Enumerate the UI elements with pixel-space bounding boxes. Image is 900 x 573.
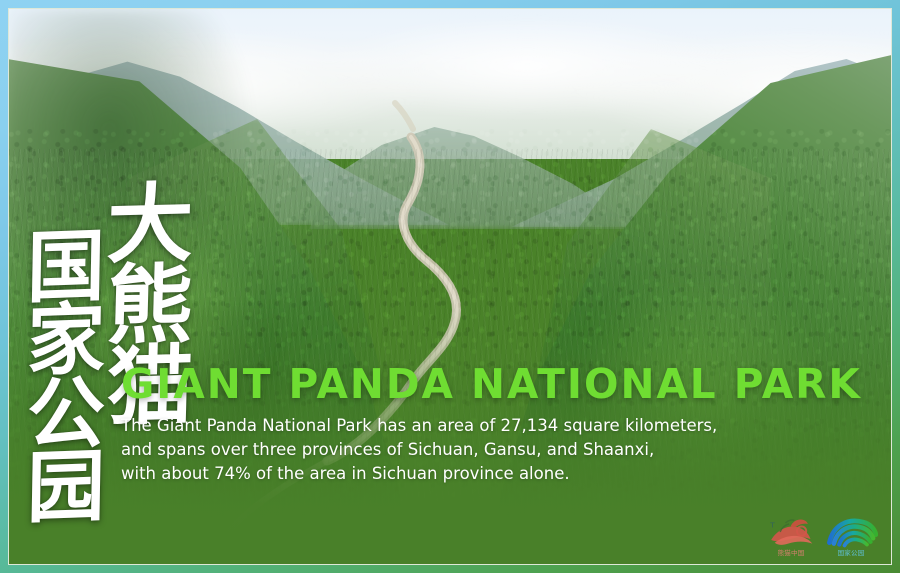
text-block: GIANT PANDA NATIONAL PARK The Giant Pand… [121, 363, 869, 486]
description-paragraph: The Giant Panda National Park has an are… [121, 414, 869, 486]
fan-logo-caption: 国家公园 [838, 550, 865, 557]
panda-calligraphy-logo: T 熊猫中国 [765, 515, 817, 557]
page-title: GIANT PANDA NATIONAL PARK [121, 363, 862, 406]
panda-logo-caption: 熊猫中国 [778, 550, 805, 557]
description-line: The Giant Panda National Park has an are… [121, 414, 869, 438]
poster-frame: 大 熊 猫 国 家 公 园 GIANT PANDA NATIONAL PARK … [0, 0, 900, 573]
panda-logo-icon: T [764, 515, 818, 549]
logo-group: T 熊猫中国 [765, 515, 877, 557]
calligraphy-column-left: 国 家 公 园 [27, 231, 105, 524]
description-line: with about 74% of the area in Sichuan pr… [121, 462, 869, 486]
description-line: and spans over three provinces of Sichua… [121, 438, 869, 462]
fan-arcs-logo-icon [824, 515, 878, 549]
calligraphy-char: 园 [26, 450, 105, 526]
fan-arcs-logo: 国家公园 [825, 515, 877, 557]
svg-text:T: T [769, 520, 775, 529]
poster-inner-frame: 大 熊 猫 国 家 公 园 GIANT PANDA NATIONAL PARK … [8, 8, 892, 565]
